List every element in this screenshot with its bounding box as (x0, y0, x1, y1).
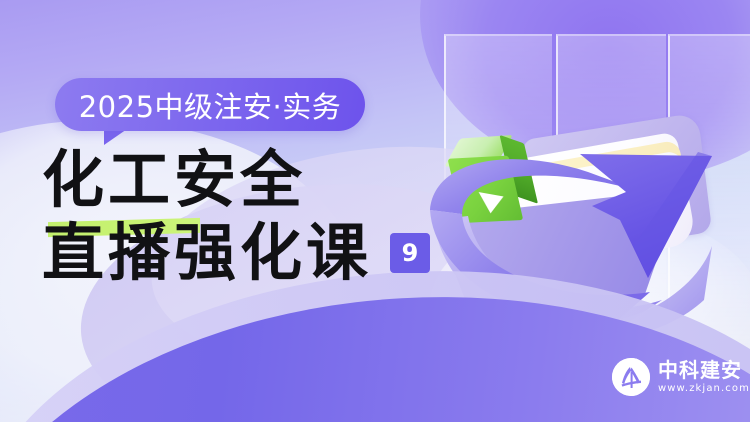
title-line-2: 直播强化课 (42, 221, 372, 284)
episode-number-badge: 9 (390, 233, 430, 273)
brand-logo-text: 中科建安 www.zkjan.com (658, 360, 750, 394)
course-poster: 2025中级注安·实务 化工安全 直播强化课 9 中科建安 www.zkjan.… (0, 0, 750, 422)
title-line-1: 化工安全 (42, 148, 442, 211)
brand-name: 中科建安 (658, 360, 750, 380)
course-category-label: 2025中级注安·实务 (79, 84, 342, 126)
title-line-2-row: 直播强化课 9 (42, 221, 442, 284)
brand-url: www.zkjan.com (658, 384, 750, 394)
brand-logo: 中科建安 www.zkjan.com (612, 358, 750, 396)
course-category-badge: 2025中级注安·实务 (55, 78, 365, 131)
zkjan-circle-logo-icon (612, 358, 650, 396)
page-title: 化工安全 直播强化课 9 (42, 148, 442, 284)
